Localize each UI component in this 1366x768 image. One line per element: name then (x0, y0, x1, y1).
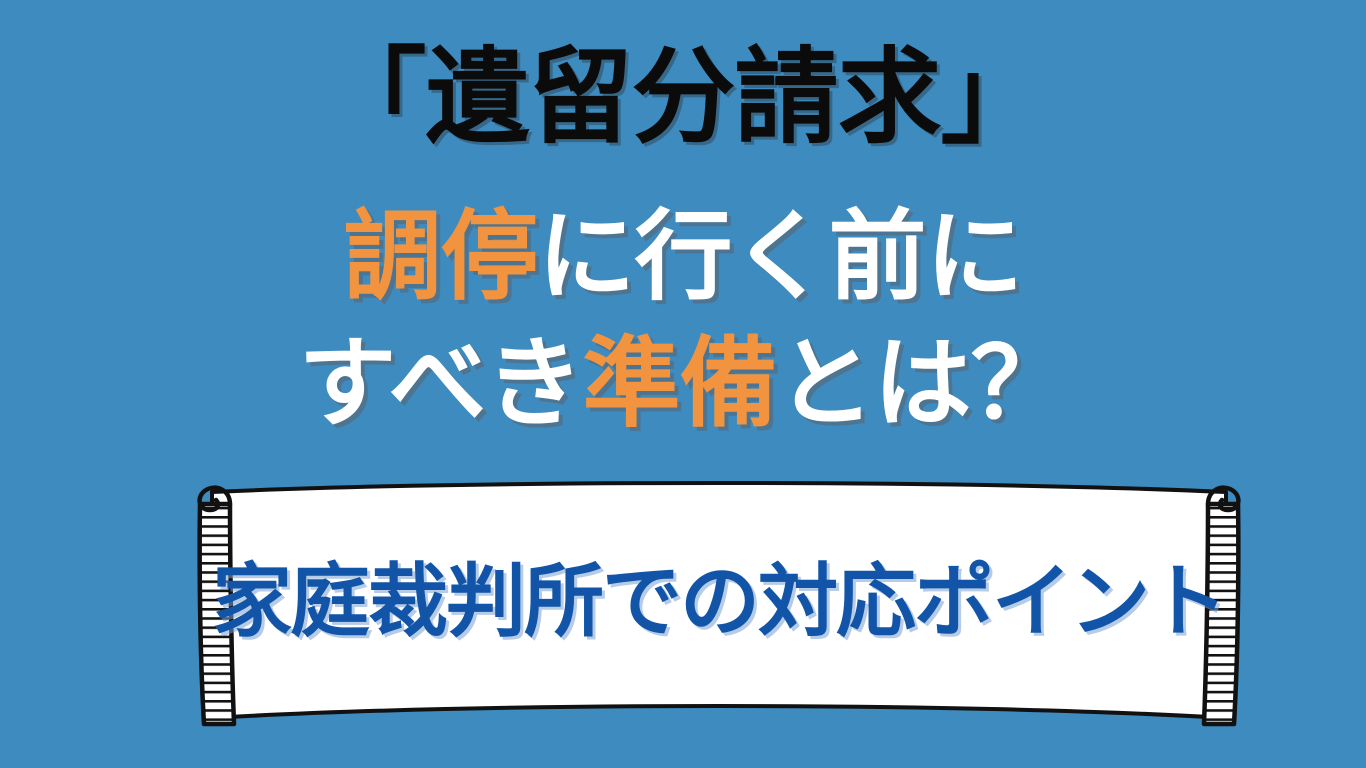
headline-line-2: 調停に行く前に (0, 203, 1366, 309)
headline-line-2-plain: に行く前に (538, 201, 1023, 311)
headline-line-1: 「遺留分請求」 (0, 42, 1366, 154)
thumbnail-canvas: 「遺留分請求」 調停に行く前に すべき準備とは？ (0, 0, 1366, 768)
headline-line-3-accent: 準備 (583, 328, 777, 438)
scroll-banner: 家庭裁判所での対応ポイント (178, 470, 1260, 742)
headline-line-3: すべき準備とは？ (0, 330, 1366, 436)
scroll-banner-label: 家庭裁判所での対応ポイント (212, 560, 1226, 644)
scroll-banner-text-wrap: 家庭裁判所での対応ポイント (178, 470, 1260, 742)
headline-line-2-accent: 調停 (343, 201, 537, 311)
headline-line-3-plain-b: とは？ (777, 328, 1068, 438)
headline-line-3-plain-a: すべき (298, 328, 582, 438)
